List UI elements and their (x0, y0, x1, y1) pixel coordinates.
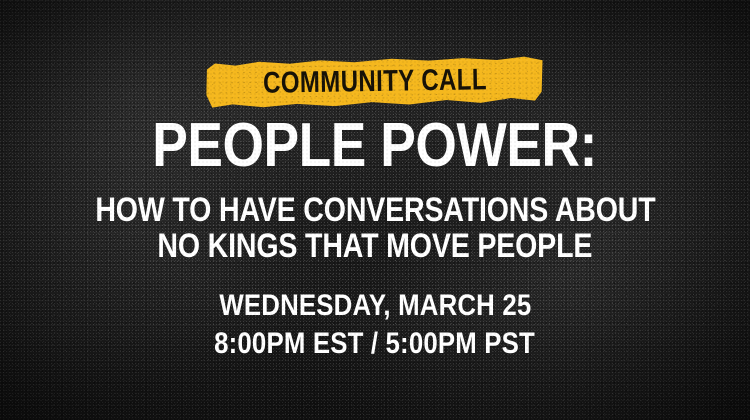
poster-content: COMMUNITY CALL PEOPLE POWER: HOW TO HAVE… (0, 0, 750, 420)
event-time: 8:00PM EST / 5:00PM PST (0, 325, 750, 363)
poster-headline: PEOPLE POWER: (0, 117, 750, 174)
subtitle-line-2-text: NO KINGS THAT MOVE PEOPLE (158, 228, 593, 264)
subtitle-line-2: NO KINGS THAT MOVE PEOPLE (0, 228, 750, 264)
event-promo-poster: COMMUNITY CALL PEOPLE POWER: HOW TO HAVE… (0, 0, 750, 420)
banner-label: COMMUNITY CALL (263, 65, 487, 99)
poster-subtitle: HOW TO HAVE CONVERSATIONS ABOUT NO KINGS… (0, 192, 750, 264)
event-date-text: WEDNESDAY, MARCH 25 (219, 287, 531, 325)
community-call-banner: COMMUNITY CALL (205, 58, 545, 107)
subtitle-line-1-text: HOW TO HAVE CONVERSATIONS ABOUT (95, 192, 655, 228)
banner-shape: COMMUNITY CALL (205, 55, 545, 109)
headline-text: PEOPLE POWER: (153, 117, 598, 174)
event-date: WEDNESDAY, MARCH 25 (0, 287, 750, 325)
poster-datetime: WEDNESDAY, MARCH 25 8:00PM EST / 5:00PM … (0, 287, 750, 363)
event-time-text: 8:00PM EST / 5:00PM PST (215, 325, 536, 363)
subtitle-line-1: HOW TO HAVE CONVERSATIONS ABOUT (0, 192, 750, 228)
